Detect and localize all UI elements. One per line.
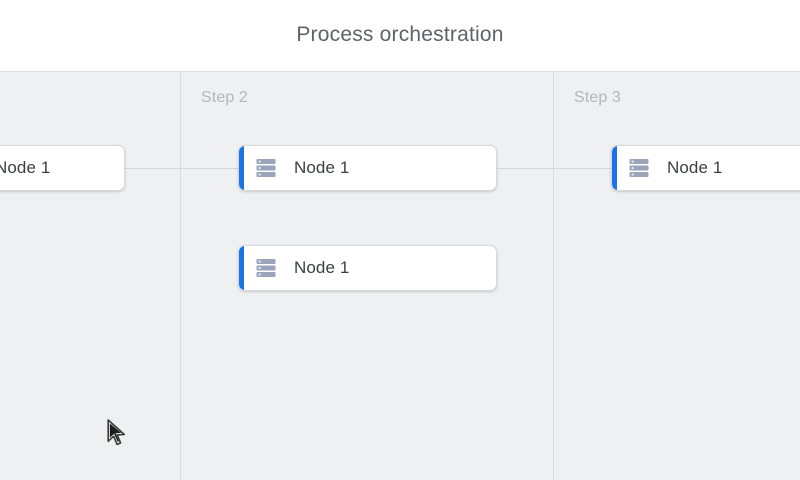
- node-card[interactable]: Node 1: [611, 145, 800, 191]
- node-accent-bar: [239, 246, 244, 290]
- node-card[interactable]: Node 1: [238, 245, 497, 291]
- node-card[interactable]: Node 1: [0, 145, 125, 191]
- node-body: Node 1: [239, 146, 496, 190]
- node-label: Node 1: [667, 158, 722, 178]
- node-label: Node 1: [0, 158, 50, 178]
- page-title: Process orchestration: [296, 24, 503, 47]
- node-accent-bar: [239, 146, 244, 190]
- node-body: Node 1: [612, 146, 800, 190]
- lane-label-step-3: Step 3: [574, 89, 621, 107]
- node-body: Node 1: [0, 146, 124, 190]
- connector-step2-step3: [497, 168, 612, 169]
- lane-step-1[interactable]: [0, 72, 180, 480]
- lane-label-step-2: Step 2: [201, 89, 248, 107]
- node-label: Node 1: [294, 258, 349, 278]
- lane-step-3[interactable]: Step 3: [553, 72, 800, 480]
- app-header: Process orchestration: [0, 0, 800, 72]
- server-stack-icon: [256, 158, 276, 178]
- server-stack-icon: [629, 158, 649, 178]
- node-body: Node 1: [239, 246, 496, 290]
- workflow-canvas[interactable]: Step 2Step 3Node 1Node 1Node 1Node 1: [0, 72, 800, 480]
- node-card[interactable]: Node 1: [238, 145, 497, 191]
- node-label: Node 1: [294, 158, 349, 178]
- process-orchestration-app: Process orchestration Step 2Step 3Node 1…: [0, 0, 800, 480]
- connector-step1-step2: [120, 168, 240, 169]
- node-accent-bar: [612, 146, 617, 190]
- server-stack-icon: [256, 258, 276, 278]
